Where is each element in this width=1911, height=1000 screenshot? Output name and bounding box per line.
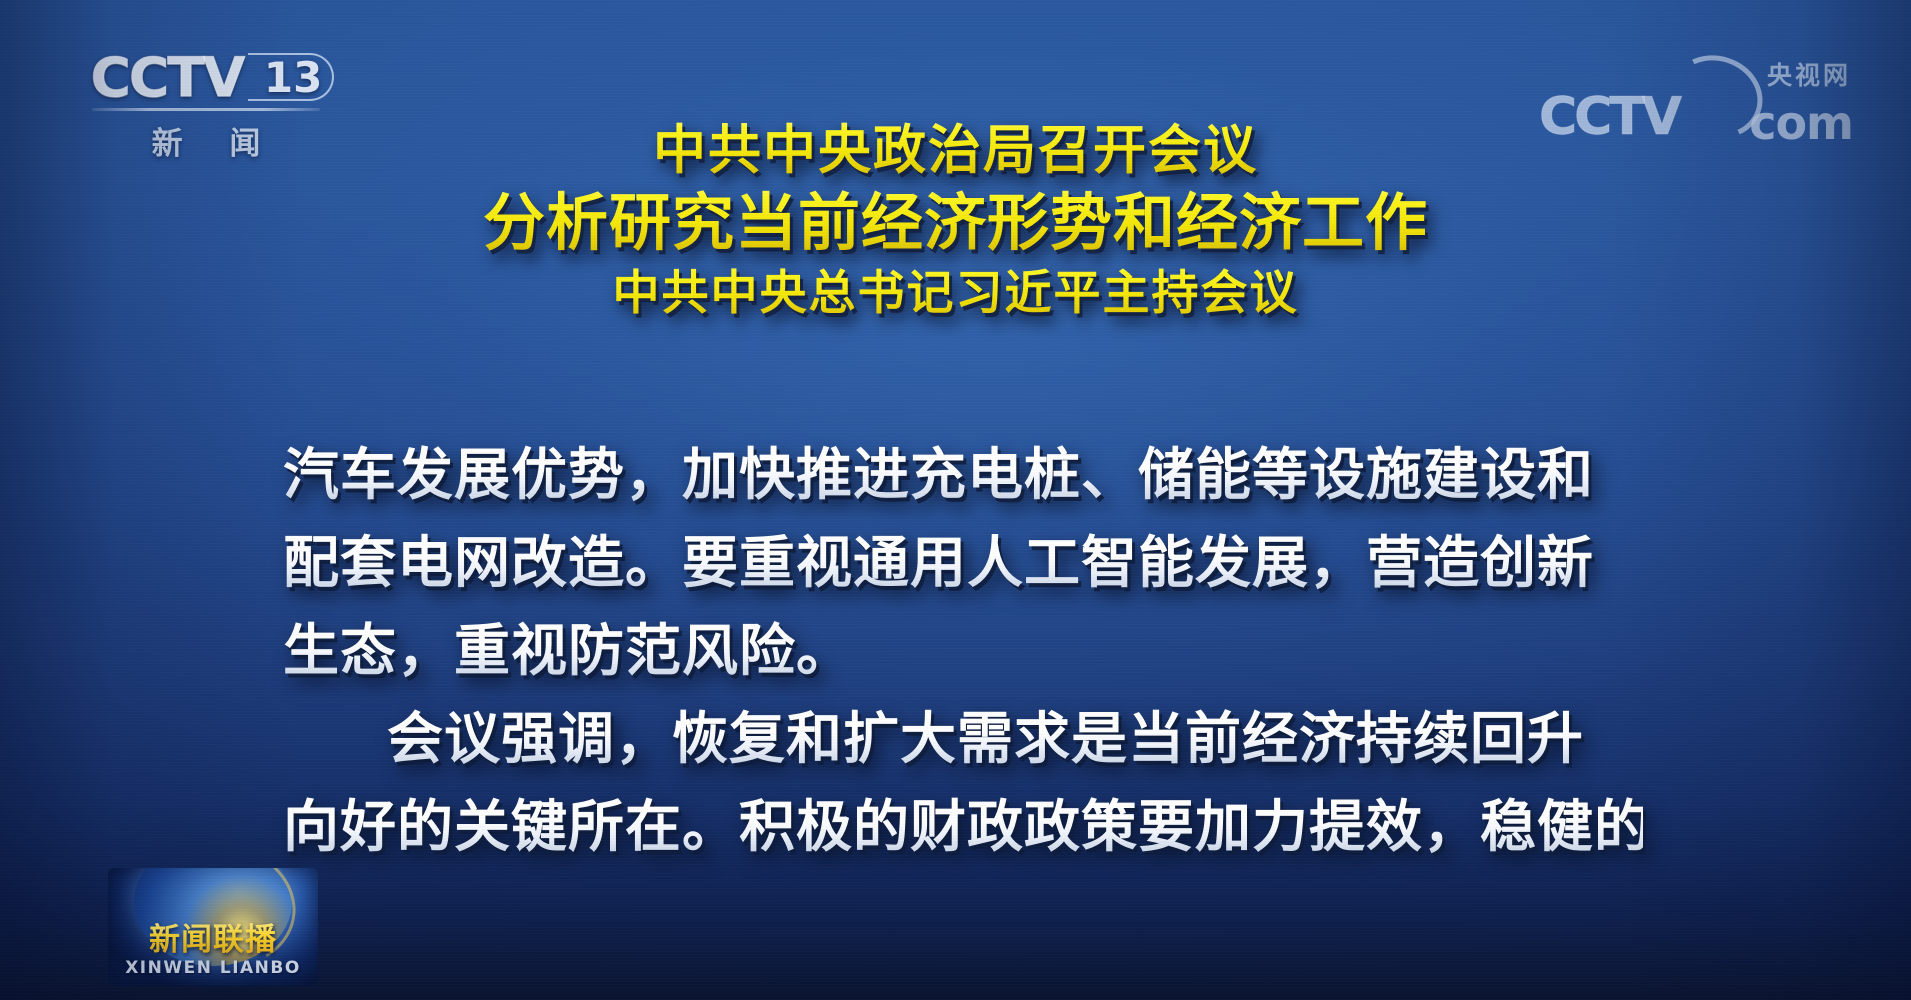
cctv-com-chinese-text: 央视网: [1767, 56, 1851, 92]
body-line: 汽车发展优势，加快推进充电桩、储能等设施建设和: [283, 432, 1643, 520]
channel-number-badge: 13: [248, 53, 334, 101]
body-line: 向好的关键所在。积极的财政政策要加力提效，稳健的: [283, 784, 1643, 872]
body-line: 配套电网改造。要重视通用人工智能发展，营造创新: [283, 520, 1643, 608]
headline-line-1: 中共中央政治局召开会议: [0, 118, 1911, 184]
body-line: 生态，重视防范风险。: [283, 608, 1643, 696]
program-logo: 新闻联播 XINWEN LIANBO: [108, 868, 318, 986]
body-line: 会议强调，恢复和扩大需求是当前经济持续回升: [283, 696, 1643, 784]
program-name-pinyin-text: XINWEN LIANBO: [108, 958, 318, 978]
cctv-letters-text: CCTV: [91, 46, 244, 109]
cctv-wordmark: CCTV 13: [92, 48, 352, 106]
headline-line-3: 中共中央总书记习近平主持会议: [0, 262, 1911, 326]
broadcast-screen: CCTV 13 新 闻 央视网 CCTV com 中共中央政治局召开会议 分析研…: [0, 0, 1911, 1000]
headline-line-2: 分析研究当前经济形势和经济工作: [0, 184, 1911, 262]
headline-block: 中共中央政治局召开会议 分析研究当前经济形势和经济工作 中共中央总书记习近平主持…: [0, 118, 1911, 326]
program-name-chinese-text: 新闻联播: [108, 914, 318, 959]
body-text-block: 汽车发展优势，加快推进充电桩、储能等设施建设和 配套电网改造。要重视通用人工智能…: [283, 432, 1643, 872]
channel-number-text: 13: [264, 53, 322, 102]
